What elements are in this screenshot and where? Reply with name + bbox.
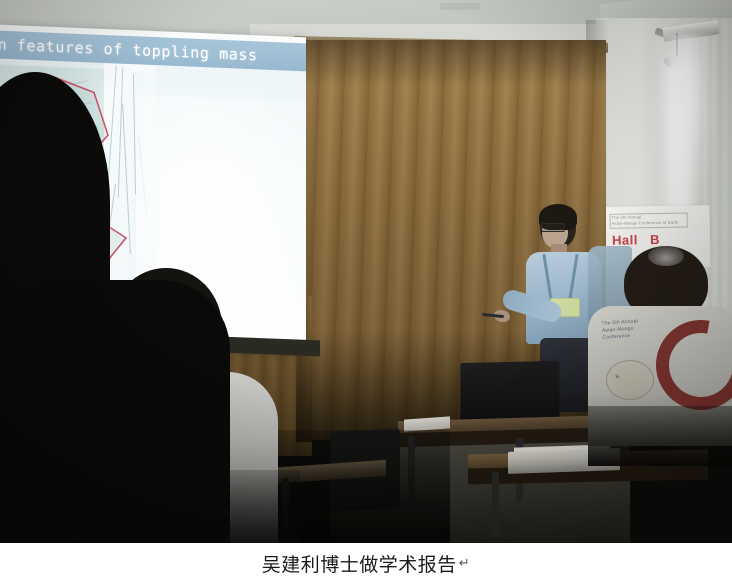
- curtain-top-shadow: [296, 40, 606, 86]
- laptop-screen: [460, 361, 559, 425]
- wall-sign-hall-letter: B: [650, 232, 660, 247]
- desk-leg: [492, 472, 499, 538]
- lecture-hall-photo: The 5th Annual Asian-Mongo Conference of…: [0, 0, 732, 543]
- caption-return-mark: ↵: [459, 556, 470, 571]
- figure-caption: 吴建利博士做学术报告 ↵: [0, 543, 732, 584]
- wall-sign-tiny-line1: The 5th Annual: [612, 214, 642, 220]
- tshirt-seal-emblem: ☯: [606, 360, 654, 400]
- audience-front-left-body: [0, 280, 230, 543]
- audience-member-right: The 5th Annual Asian-Mongo Conference ☯: [588, 246, 732, 446]
- presenter-glasses: [541, 223, 565, 232]
- figure-with-caption: The 5th Annual Asian-Mongo Conference of…: [0, 0, 732, 584]
- audience-right-head-highlight: [648, 246, 684, 266]
- caption-label: 吴建利博士做学术报告: [262, 550, 457, 577]
- ceiling-panel-seam: [440, 3, 480, 10]
- audience-right-lower-shadow: [588, 406, 732, 466]
